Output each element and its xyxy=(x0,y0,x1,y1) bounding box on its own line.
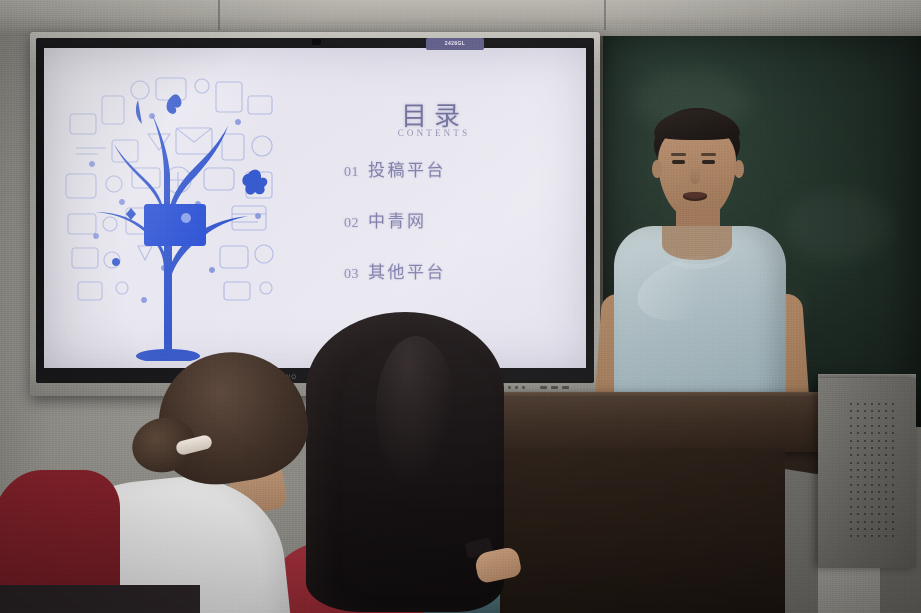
display-port-row[interactable] xyxy=(540,386,569,389)
eye-right xyxy=(702,160,715,164)
list-item: 01 投稿平台 xyxy=(344,156,564,181)
slide-subtitle: CONTENTS xyxy=(334,128,534,138)
toc-label: 投稿平台 xyxy=(368,156,446,181)
usb-port-icon[interactable] xyxy=(540,386,547,389)
nose xyxy=(690,166,700,184)
eyebrow-right xyxy=(701,153,716,156)
desk-shadow-area xyxy=(0,585,200,613)
camera-sensor-icon xyxy=(312,39,321,45)
toc-number: 03 xyxy=(344,267,359,283)
doodle-knowledge-tree-icon xyxy=(52,56,302,361)
list-item: 02 中青网 xyxy=(344,207,564,232)
hair-highlight xyxy=(376,336,456,486)
teacher-presenter xyxy=(596,108,806,418)
model-badge: 2428GL xyxy=(426,38,484,50)
toc-number: 02 xyxy=(344,216,359,232)
toc-label: 中青网 xyxy=(368,207,427,232)
table-of-contents: 01 投稿平台 02 中青网 03 其他平台 xyxy=(344,156,564,309)
ear-left xyxy=(652,160,662,178)
hdmi-port-icon[interactable] xyxy=(562,386,569,389)
toc-label: 其他平台 xyxy=(368,258,446,283)
usb-port-icon[interactable] xyxy=(551,386,558,389)
speaker-grille-icon xyxy=(848,400,896,540)
hair-fringe xyxy=(654,110,740,140)
toc-number: 01 xyxy=(344,165,359,181)
eye-left xyxy=(672,160,685,164)
eyebrow-left xyxy=(671,153,686,156)
classroom-scene: 目录 CONTENTS 01 投稿平台 02 中青网 03 其他平台 2428 xyxy=(0,0,921,613)
mouth xyxy=(683,192,707,201)
ear-right xyxy=(734,160,744,178)
list-item: 03 其他平台 xyxy=(344,258,564,283)
